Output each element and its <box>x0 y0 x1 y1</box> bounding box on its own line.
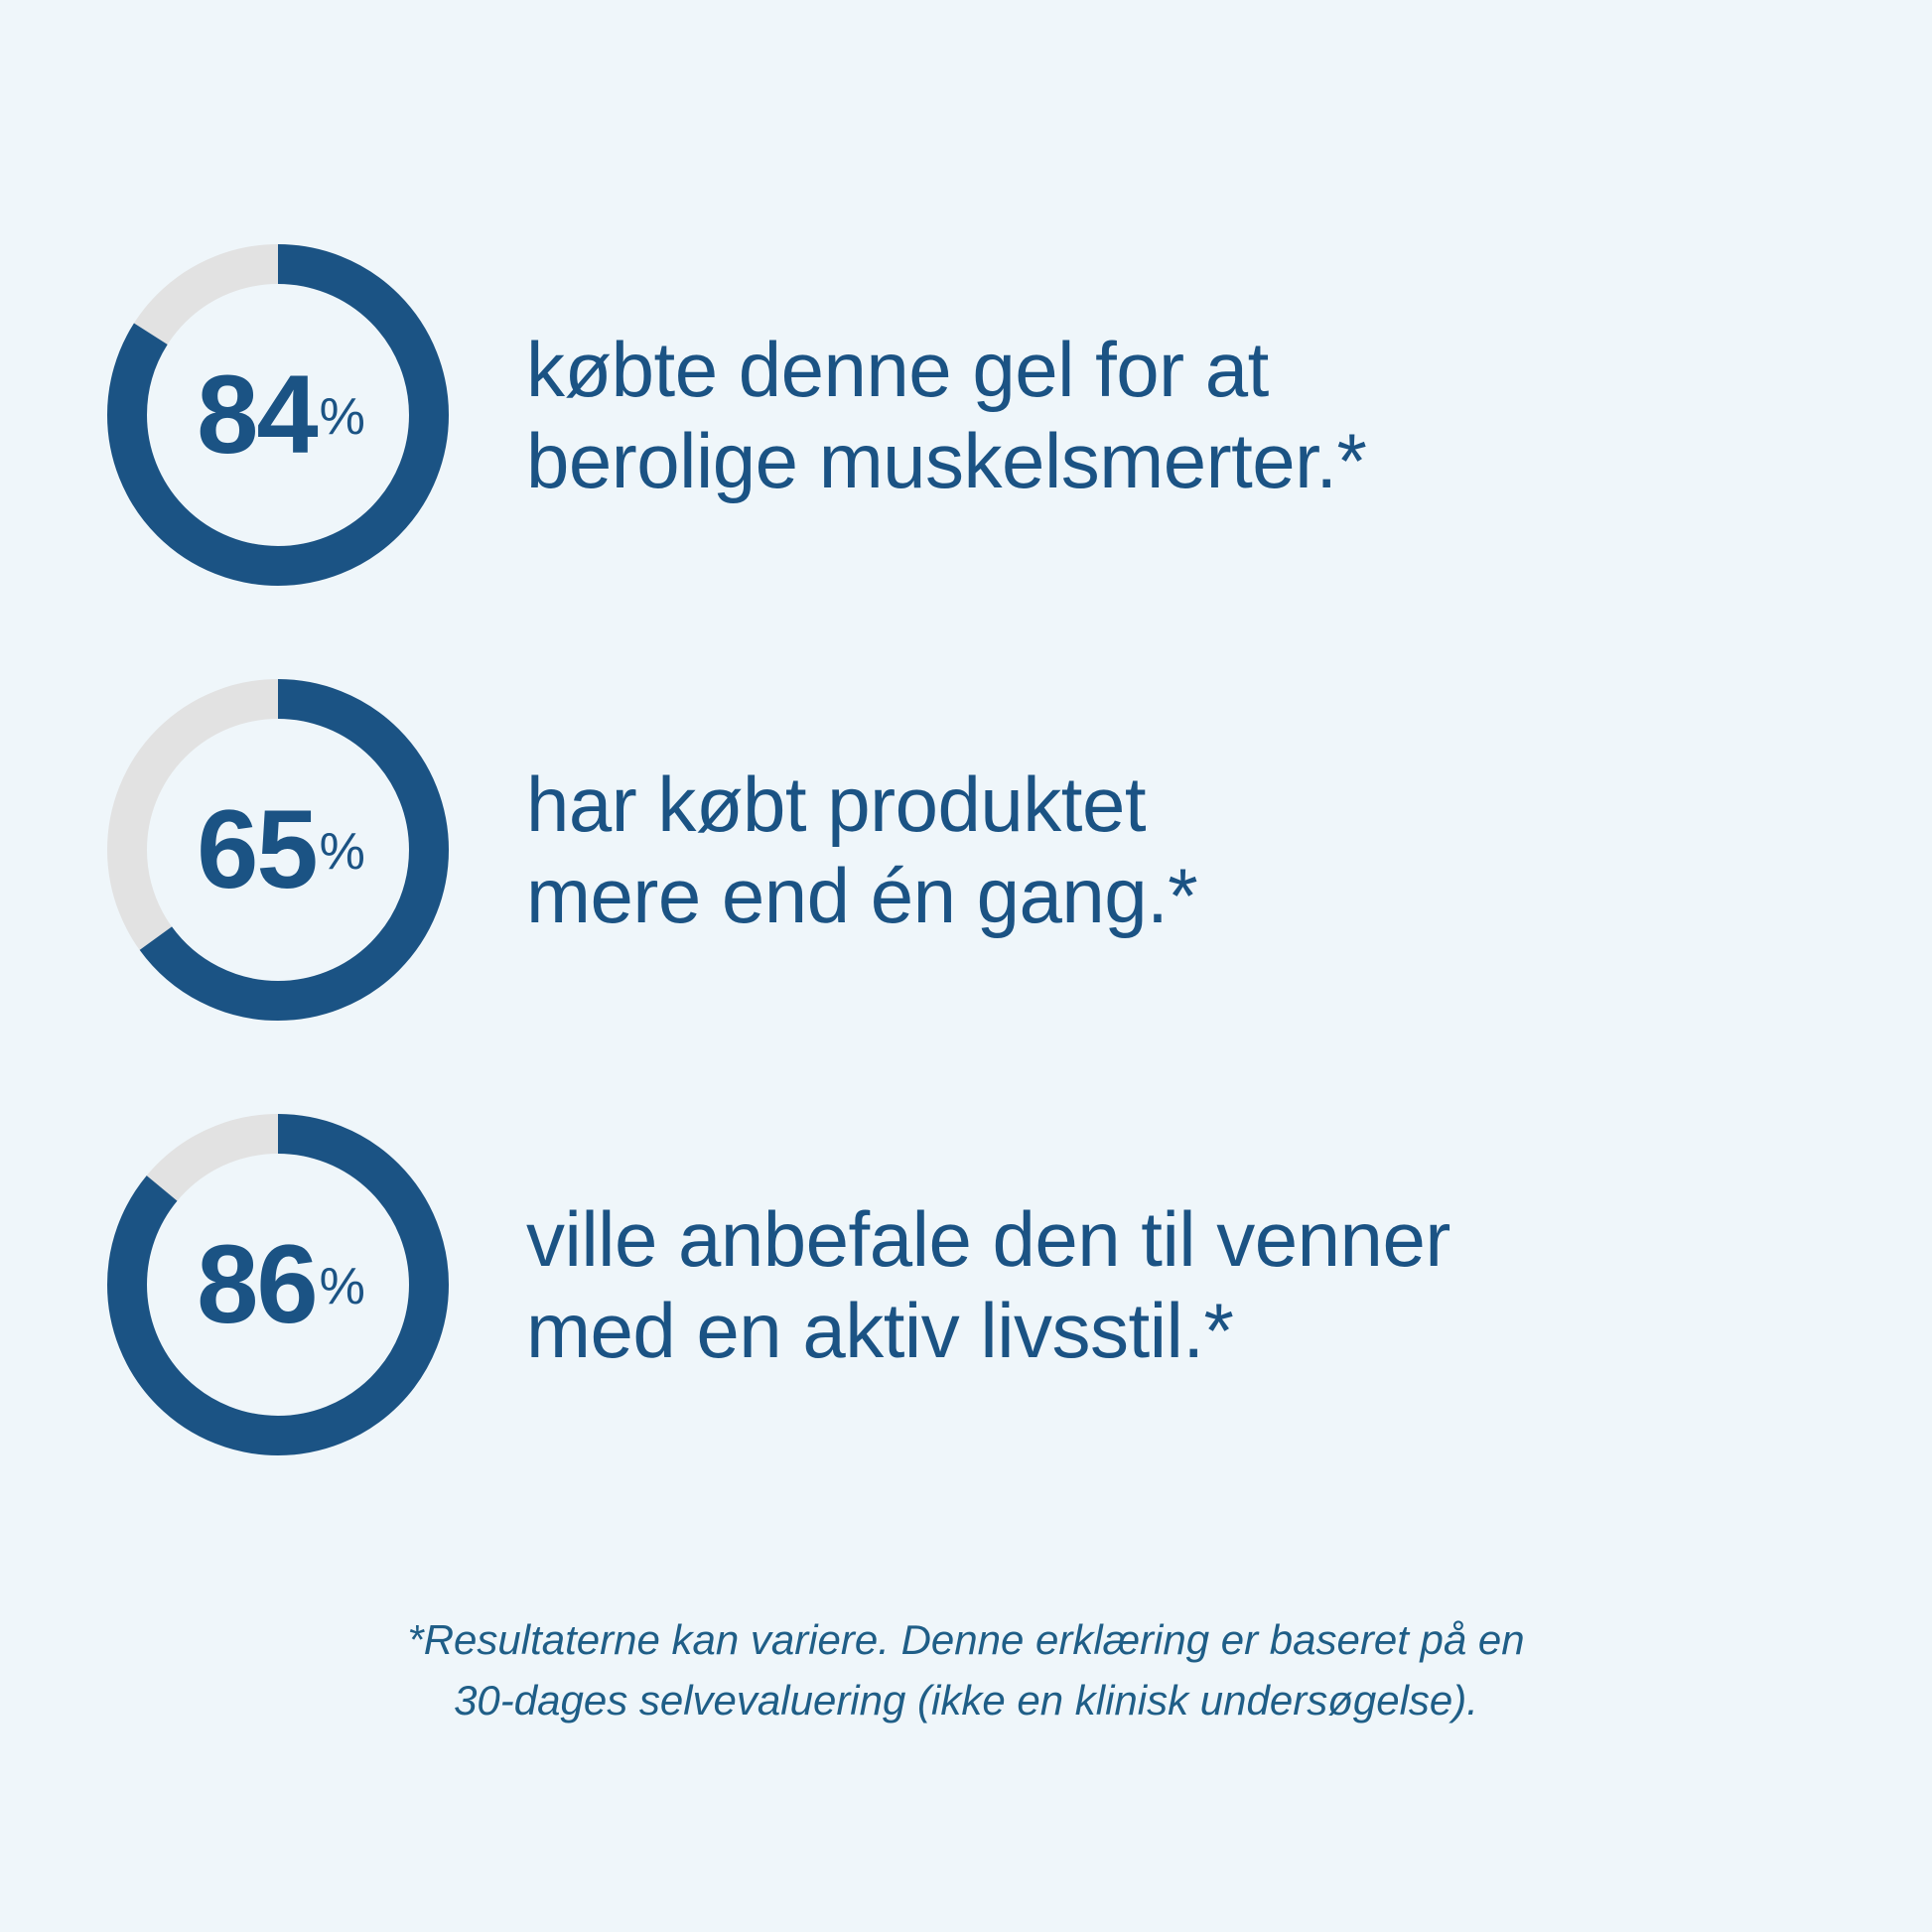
percent-sign: % <box>320 391 365 443</box>
stat-description-line-1: har købt produktet <box>526 759 1197 850</box>
stat-row: 86 % ville anbefale den til venner med e… <box>0 1106 1932 1463</box>
donut-value-text: 65 <box>197 794 317 905</box>
donut-center-label: 84 % <box>99 236 457 594</box>
stat-description: ville anbefale den til venner med en akt… <box>526 1193 1450 1376</box>
stat-description-line-2: mere end én gang.* <box>526 850 1197 941</box>
stats-list: 84 % købte denne gel for at berolige mus… <box>0 236 1932 1463</box>
donut-chart-65: 65 % <box>99 671 457 1029</box>
donut-center-label: 65 % <box>99 671 457 1029</box>
donut-value-text: 84 <box>197 359 317 471</box>
stat-row: 84 % købte denne gel for at berolige mus… <box>0 236 1932 594</box>
stat-description-line-1: købte denne gel for at <box>526 324 1366 415</box>
stats-infographic: 84 % købte denne gel for at berolige mus… <box>0 0 1932 1932</box>
stat-row: 65 % har købt produktet mere end én gang… <box>0 671 1932 1029</box>
stat-description: har købt produktet mere end én gang.* <box>526 759 1197 941</box>
donut-chart-84: 84 % <box>99 236 457 594</box>
donut-chart-86: 86 % <box>99 1106 457 1463</box>
percent-sign: % <box>320 826 365 878</box>
stat-description-line-2: berolige muskelsmerter.* <box>526 415 1366 506</box>
footnote-disclaimer: *Resultaterne kan variere. Denne erklæri… <box>0 1610 1932 1731</box>
footnote-line-1: *Resultaterne kan variere. Denne erklæri… <box>298 1610 1634 1671</box>
footnote-line-2: 30-dages selvevaluering (ikke en klinisk… <box>298 1671 1634 1731</box>
stat-description: købte denne gel for at berolige muskelsm… <box>526 324 1366 506</box>
stat-description-line-1: ville anbefale den til venner <box>526 1193 1450 1285</box>
stat-description-line-2: med en aktiv livsstil.* <box>526 1285 1450 1376</box>
donut-center-label: 86 % <box>99 1106 457 1463</box>
donut-value-text: 86 <box>197 1229 317 1340</box>
percent-sign: % <box>320 1261 365 1312</box>
